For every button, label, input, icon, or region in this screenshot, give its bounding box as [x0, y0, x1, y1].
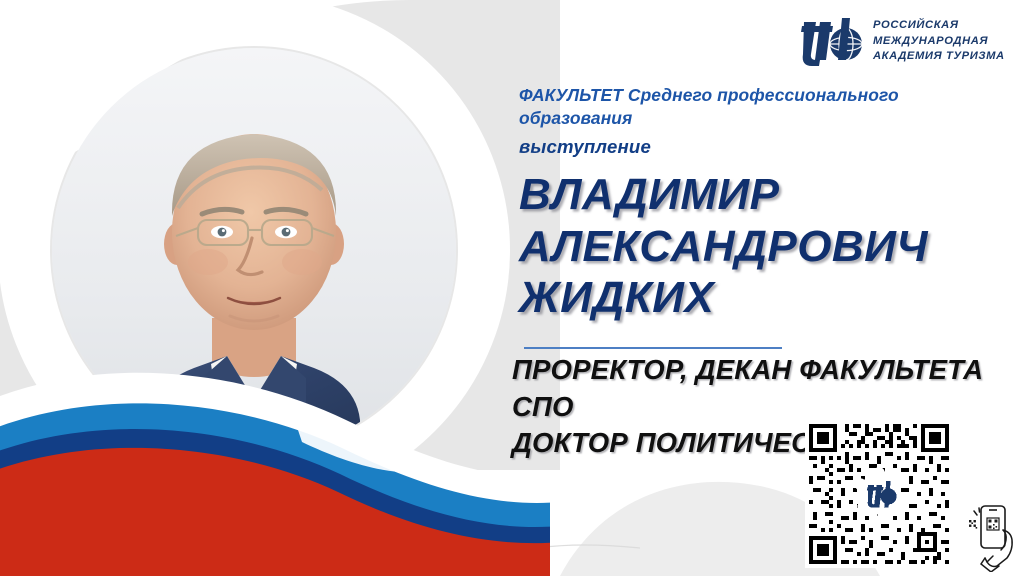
brand-name-line-3: АКАДЕМИЯ ТУРИЗМА: [873, 49, 1005, 64]
brand-name-line-1: РОССИЙСКАЯ: [873, 18, 1005, 33]
russian-flag-ribbon: [0, 330, 550, 576]
speaker-text-block: ФАКУЛЬТЕТ Среднего профессионального обр…: [519, 84, 989, 324]
brand-name: РОССИЙСКАЯ МЕЖДУНАРОДНАЯ АКАДЕМИЯ ТУРИЗМ…: [873, 18, 1005, 64]
brand-name-line-2: МЕЖДУНАРОДНАЯ: [873, 34, 1005, 49]
presentation-slide: РОССИЙСКАЯ МЕЖДУНАРОДНАЯ АКАДЕМИЯ ТУРИЗМ…: [0, 0, 1024, 576]
brand-logo: РОССИЙСКАЯ МЕЖДУНАРОДНАЯ АКАДЕМИЯ ТУРИЗМ…: [800, 16, 1005, 66]
qr-code-graphic[interactable]: [805, 420, 953, 568]
scan-qr-with-phone-icon: [963, 500, 1019, 572]
speaker-role-line-1: ПРОРЕКТОР, ДЕКАН ФАКУЛЬТЕТА СПО: [512, 352, 992, 425]
event-line: выступление: [519, 136, 989, 158]
speaker-first-name: ВЛАДИМИР: [519, 169, 989, 220]
divider-rule: [524, 347, 782, 349]
speaker-patronymic: АЛЕКСАНДРОВИЧ: [519, 221, 989, 272]
qr-code[interactable]: [805, 420, 953, 568]
speaker-full-name: ВЛАДИМИР АЛЕКСАНДРОВИЧ ЖИДКИХ: [519, 169, 989, 323]
rmat-globe-logo-icon: [800, 16, 864, 66]
faculty-line: ФАКУЛЬТЕТ Среднего профессионального обр…: [519, 84, 939, 129]
speaker-last-name: ЖИДКИХ: [519, 272, 989, 323]
